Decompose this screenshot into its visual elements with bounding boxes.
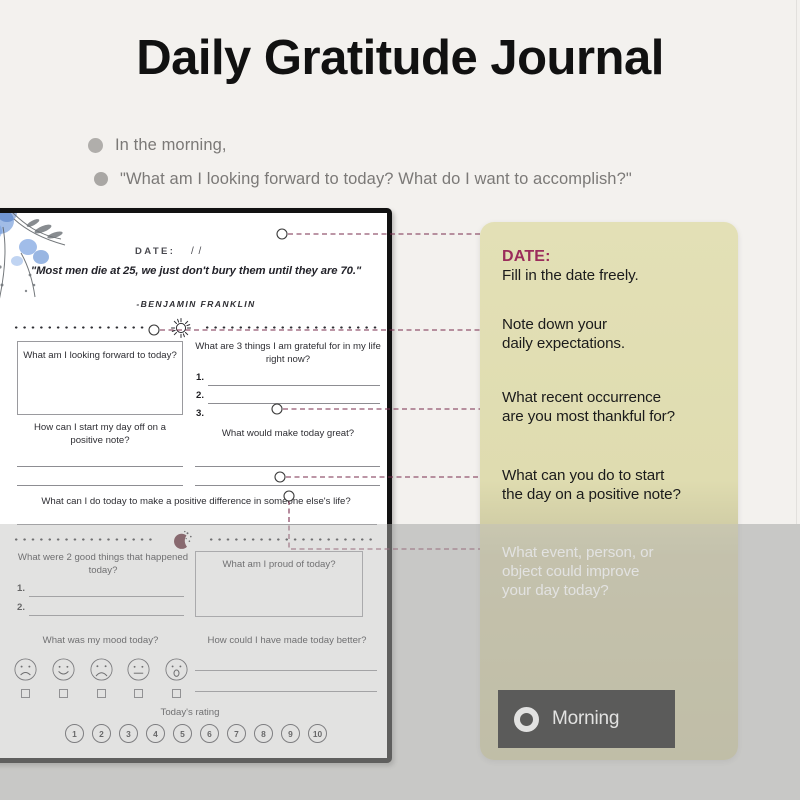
write-line[interactable] — [17, 485, 183, 486]
question-positive-difference: What can I do today to make a positive d… — [9, 496, 383, 507]
mood-face-row — [13, 657, 189, 682]
rating-option[interactable]: 1 — [65, 724, 84, 743]
rating-option[interactable]: 7 — [227, 724, 246, 743]
mood-checkbox[interactable] — [21, 689, 30, 698]
question-mood: What was my mood today? — [13, 635, 188, 646]
annotation-text-1: Fill in the date freely. — [502, 266, 730, 285]
write-line[interactable] — [208, 403, 380, 404]
annotation-item-2: Note down your daily expectations. — [502, 315, 730, 353]
rating-option[interactable]: 5 — [173, 724, 192, 743]
list-number: 3. — [196, 408, 204, 419]
question-looking-forward: What am I looking forward to today? — [21, 350, 179, 363]
intro-item-1: In the morning, — [88, 128, 748, 162]
moon-icon — [167, 529, 195, 553]
sun-icon — [170, 317, 192, 339]
sad-face-icon[interactable] — [13, 657, 38, 682]
list-number: 2. — [196, 390, 204, 401]
question-proud: What am I proud of today? — [199, 559, 359, 570]
list-number: 2. — [17, 602, 25, 613]
rating-option[interactable]: 8 — [254, 724, 273, 743]
write-line[interactable] — [29, 596, 184, 597]
write-line[interactable] — [17, 466, 183, 467]
annotation-text-4: What can you do to start the day on a po… — [502, 466, 730, 504]
annotation-text-5: What event, person, or object could impr… — [502, 543, 730, 600]
write-line[interactable] — [208, 385, 380, 386]
bullet-dot-icon — [94, 172, 108, 186]
page-title: Daily Gratitude Journal — [0, 30, 800, 86]
morning-button-label: Morning — [552, 708, 619, 730]
dotted-rule — [203, 326, 378, 329]
write-line[interactable] — [195, 670, 377, 671]
rating-option[interactable]: 6 — [200, 724, 219, 743]
circle-ring-icon — [514, 707, 539, 732]
bullet-dot-icon — [88, 138, 103, 153]
date-value: / / — [191, 246, 202, 257]
rating-option[interactable]: 4 — [146, 724, 165, 743]
mood-checkbox-row — [13, 689, 189, 698]
annotation-item-5: What event, person, or object could impr… — [502, 543, 730, 600]
question-made-better: How could I have made today better? — [191, 635, 383, 646]
annotation-item-4: What can you do to start the day on a po… — [502, 466, 730, 504]
rating-option[interactable]: 9 — [281, 724, 300, 743]
journal-page-preview[interactable]: DATE: / / "Most men die at 25, we just d… — [0, 208, 392, 763]
rating-option[interactable]: 10 — [308, 724, 327, 743]
intro-item-2-label: "What am I looking forward to today? Wha… — [120, 170, 632, 189]
annotation-item-3: What recent occurrence are you most than… — [502, 388, 730, 426]
rating-option[interactable]: 2 — [92, 724, 111, 743]
write-line[interactable] — [195, 485, 380, 486]
intro-list: In the morning, "What am I looking forwa… — [88, 128, 748, 196]
annotation-text-3: What recent occurrence are you most than… — [502, 388, 730, 426]
intro-item-1-label: In the morning, — [115, 136, 227, 155]
annotation-panel: DATE: Fill in the date freely. Note down… — [480, 222, 738, 760]
question-today-great: What would make today great? — [193, 428, 383, 439]
dotted-rule — [12, 538, 152, 541]
annotation-text-2: Note down your daily expectations. — [502, 315, 730, 353]
mood-checkbox[interactable] — [97, 689, 106, 698]
annotation-title-date: DATE: — [502, 248, 730, 266]
rating-label: Today's rating — [105, 707, 275, 718]
annotation-item-1: DATE: Fill in the date freely. — [502, 248, 730, 285]
dotted-rule — [12, 326, 152, 329]
neutral-face-icon[interactable] — [126, 657, 151, 682]
write-line[interactable] — [195, 466, 380, 467]
rating-option[interactable]: 3 — [119, 724, 138, 743]
surprised-face-icon[interactable] — [164, 657, 189, 682]
question-grateful: What are 3 things I am grateful for in m… — [193, 341, 383, 366]
mood-checkbox[interactable] — [134, 689, 143, 698]
mood-checkbox[interactable] — [59, 689, 68, 698]
write-line[interactable] — [29, 615, 184, 616]
morning-button[interactable]: Morning — [498, 690, 675, 748]
question-positive-note: How can I start my day off on a positive… — [17, 422, 183, 447]
quote-text: "Most men die at 25, we just don't bury … — [3, 265, 389, 277]
question-good-things: What were 2 good things that happened to… — [17, 552, 189, 577]
very-sad-face-icon[interactable] — [89, 657, 114, 682]
write-line[interactable] — [17, 524, 377, 525]
list-number: 1. — [196, 372, 204, 383]
happy-face-icon[interactable] — [51, 657, 76, 682]
dotted-rule — [207, 538, 377, 541]
intro-item-2: "What am I looking forward to today? Wha… — [88, 162, 748, 196]
quote-author: -BENJAMIN FRANKLIN — [3, 299, 389, 309]
list-number: 1. — [17, 583, 25, 594]
date-label: DATE: — [135, 246, 175, 257]
write-line[interactable] — [195, 691, 377, 692]
mood-checkbox[interactable] — [172, 689, 181, 698]
rating-scale: 1 2 3 4 5 6 7 8 9 10 — [65, 724, 327, 743]
